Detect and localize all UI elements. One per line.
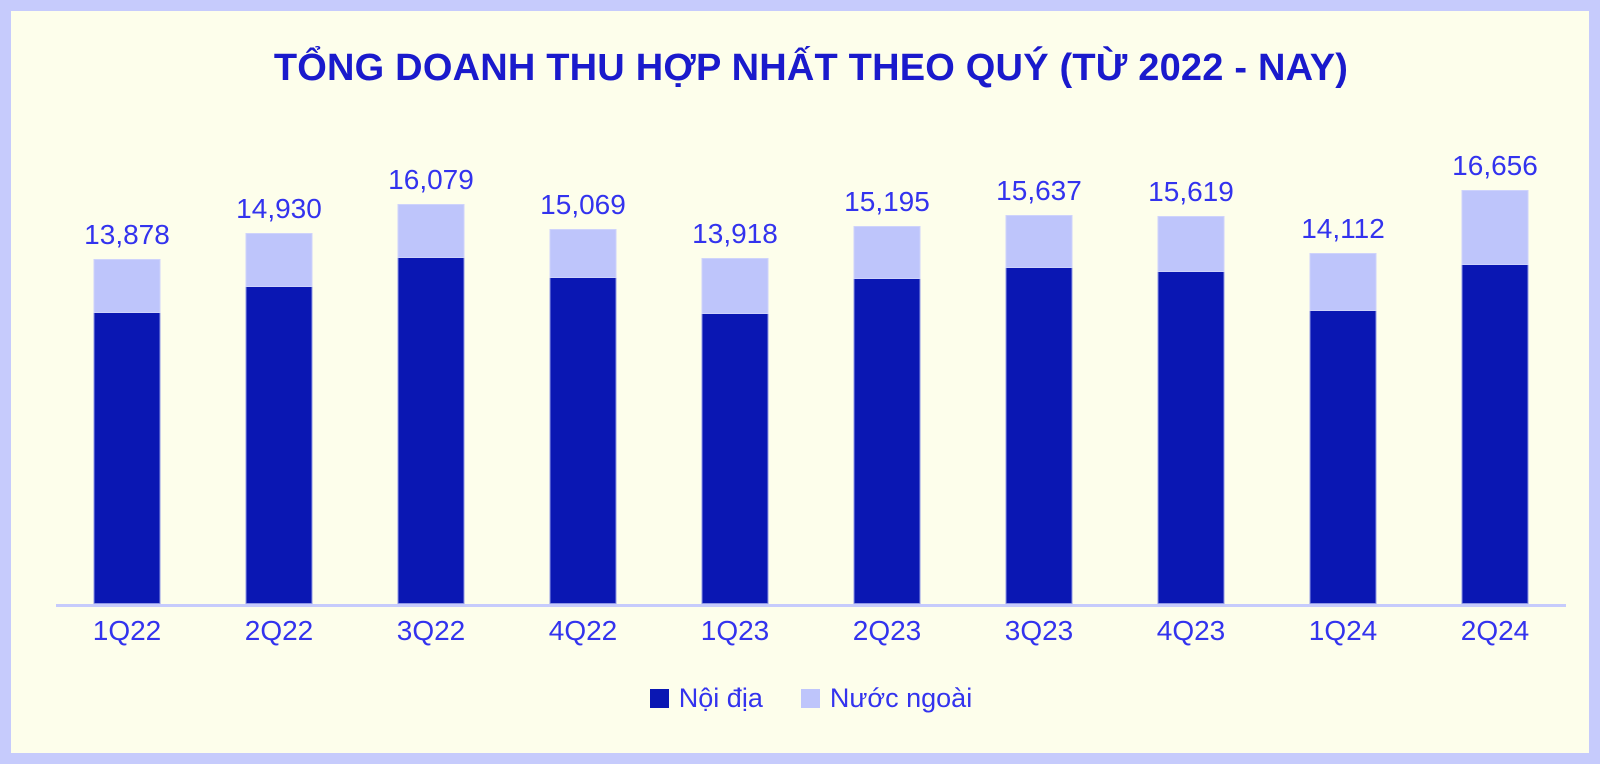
bar-total-label: 16,656 (1452, 150, 1538, 182)
plot-area: 13,87814,93016,07915,06913,91815,19515,6… (51, 107, 1571, 607)
legend-item[interactable]: Nước ngoài (801, 683, 972, 714)
bar-group: 15,637 (963, 107, 1115, 604)
legend-swatch-icon (801, 689, 820, 708)
bar-total-label: 15,069 (540, 189, 626, 221)
x-tick-label-2q22: 2Q22 (203, 615, 355, 647)
bar-group: 14,930 (203, 107, 355, 604)
bar-segment-domestic[interactable] (94, 313, 161, 604)
bar-total-label: 15,195 (844, 186, 930, 218)
legend-swatch-icon (650, 689, 669, 708)
bar-total-label: 13,918 (692, 218, 778, 250)
bar-total-label: 16,079 (388, 164, 474, 196)
bar-total-label: 14,112 (1301, 213, 1385, 245)
x-tick-label-4q22: 4Q22 (507, 615, 659, 647)
bar-total-label: 15,637 (996, 175, 1082, 207)
x-tick-label-1q22: 1Q22 (51, 615, 203, 647)
bar-stack[interactable] (550, 229, 617, 604)
bar-group: 16,079 (355, 107, 507, 604)
x-tick-label-4q23: 4Q23 (1115, 615, 1267, 647)
bar-segment-domestic[interactable] (854, 279, 921, 604)
bar-group: 13,878 (51, 107, 203, 604)
bar-total-label: 13,878 (84, 219, 170, 251)
bar-group: 15,069 (507, 107, 659, 604)
chart-card: TỔNG DOANH THU HỢP NHẤT THEO QUÝ (TỪ 202… (0, 0, 1600, 764)
bar-stack[interactable] (246, 233, 313, 604)
bar-segment-foreign[interactable] (854, 226, 921, 279)
bar-segment-foreign[interactable] (1006, 215, 1073, 268)
x-axis-line (56, 604, 1566, 607)
legend-label: Nội địa (679, 683, 763, 714)
bar-segment-domestic[interactable] (1158, 272, 1225, 604)
bar-group: 16,656 (1419, 107, 1571, 604)
bar-segment-domestic[interactable] (246, 287, 313, 604)
bar-segment-foreign[interactable] (1310, 253, 1377, 310)
bar-segment-foreign[interactable] (1158, 216, 1225, 272)
legend-item[interactable]: Nội địa (650, 683, 763, 714)
x-tick-label-1q24: 1Q24 (1267, 615, 1419, 647)
bar-stack[interactable] (854, 226, 921, 604)
bar-total-label: 15,619 (1148, 176, 1234, 208)
bar-group: 13,918 (659, 107, 811, 604)
bar-segment-foreign[interactable] (398, 204, 465, 257)
bar-stack[interactable] (1158, 216, 1225, 604)
x-tick-label-2q24: 2Q24 (1419, 615, 1571, 647)
bar-group: 15,619 (1115, 107, 1267, 604)
bar-stack[interactable] (1006, 215, 1073, 604)
bar-total-label: 14,930 (236, 193, 322, 225)
bar-stack[interactable] (702, 258, 769, 604)
bar-segment-domestic[interactable] (398, 258, 465, 604)
bar-segment-domestic[interactable] (550, 278, 617, 604)
x-tick-label-3q23: 3Q23 (963, 615, 1115, 647)
bar-segment-domestic[interactable] (1310, 311, 1377, 604)
bar-segment-foreign[interactable] (246, 233, 313, 287)
bar-segment-foreign[interactable] (1462, 190, 1529, 265)
bar-segment-domestic[interactable] (702, 314, 769, 604)
bar-segment-domestic[interactable] (1006, 268, 1073, 604)
bar-segment-domestic[interactable] (1462, 265, 1529, 604)
legend-label: Nước ngoài (830, 683, 972, 714)
bar-group: 14,112 (1267, 107, 1419, 604)
bar-stack[interactable] (94, 259, 161, 604)
chart-title: TỔNG DOANH THU HỢP NHẤT THEO QUÝ (TỪ 202… (11, 47, 1600, 90)
x-axis-tick-labels: 1Q222Q223Q224Q221Q232Q233Q234Q231Q242Q24 (51, 615, 1571, 661)
bar-stack[interactable] (1310, 253, 1377, 604)
bar-stack[interactable] (398, 204, 465, 604)
x-tick-label-2q23: 2Q23 (811, 615, 963, 647)
bar-segment-foreign[interactable] (94, 259, 161, 313)
bar-stack[interactable] (1462, 190, 1529, 604)
x-tick-label-3q22: 3Q22 (355, 615, 507, 647)
bar-segment-foreign[interactable] (550, 229, 617, 277)
bar-segment-foreign[interactable] (702, 258, 769, 314)
chart-legend: Nội địaNước ngoài (11, 683, 1600, 714)
x-tick-label-1q23: 1Q23 (659, 615, 811, 647)
bar-group: 15,195 (811, 107, 963, 604)
